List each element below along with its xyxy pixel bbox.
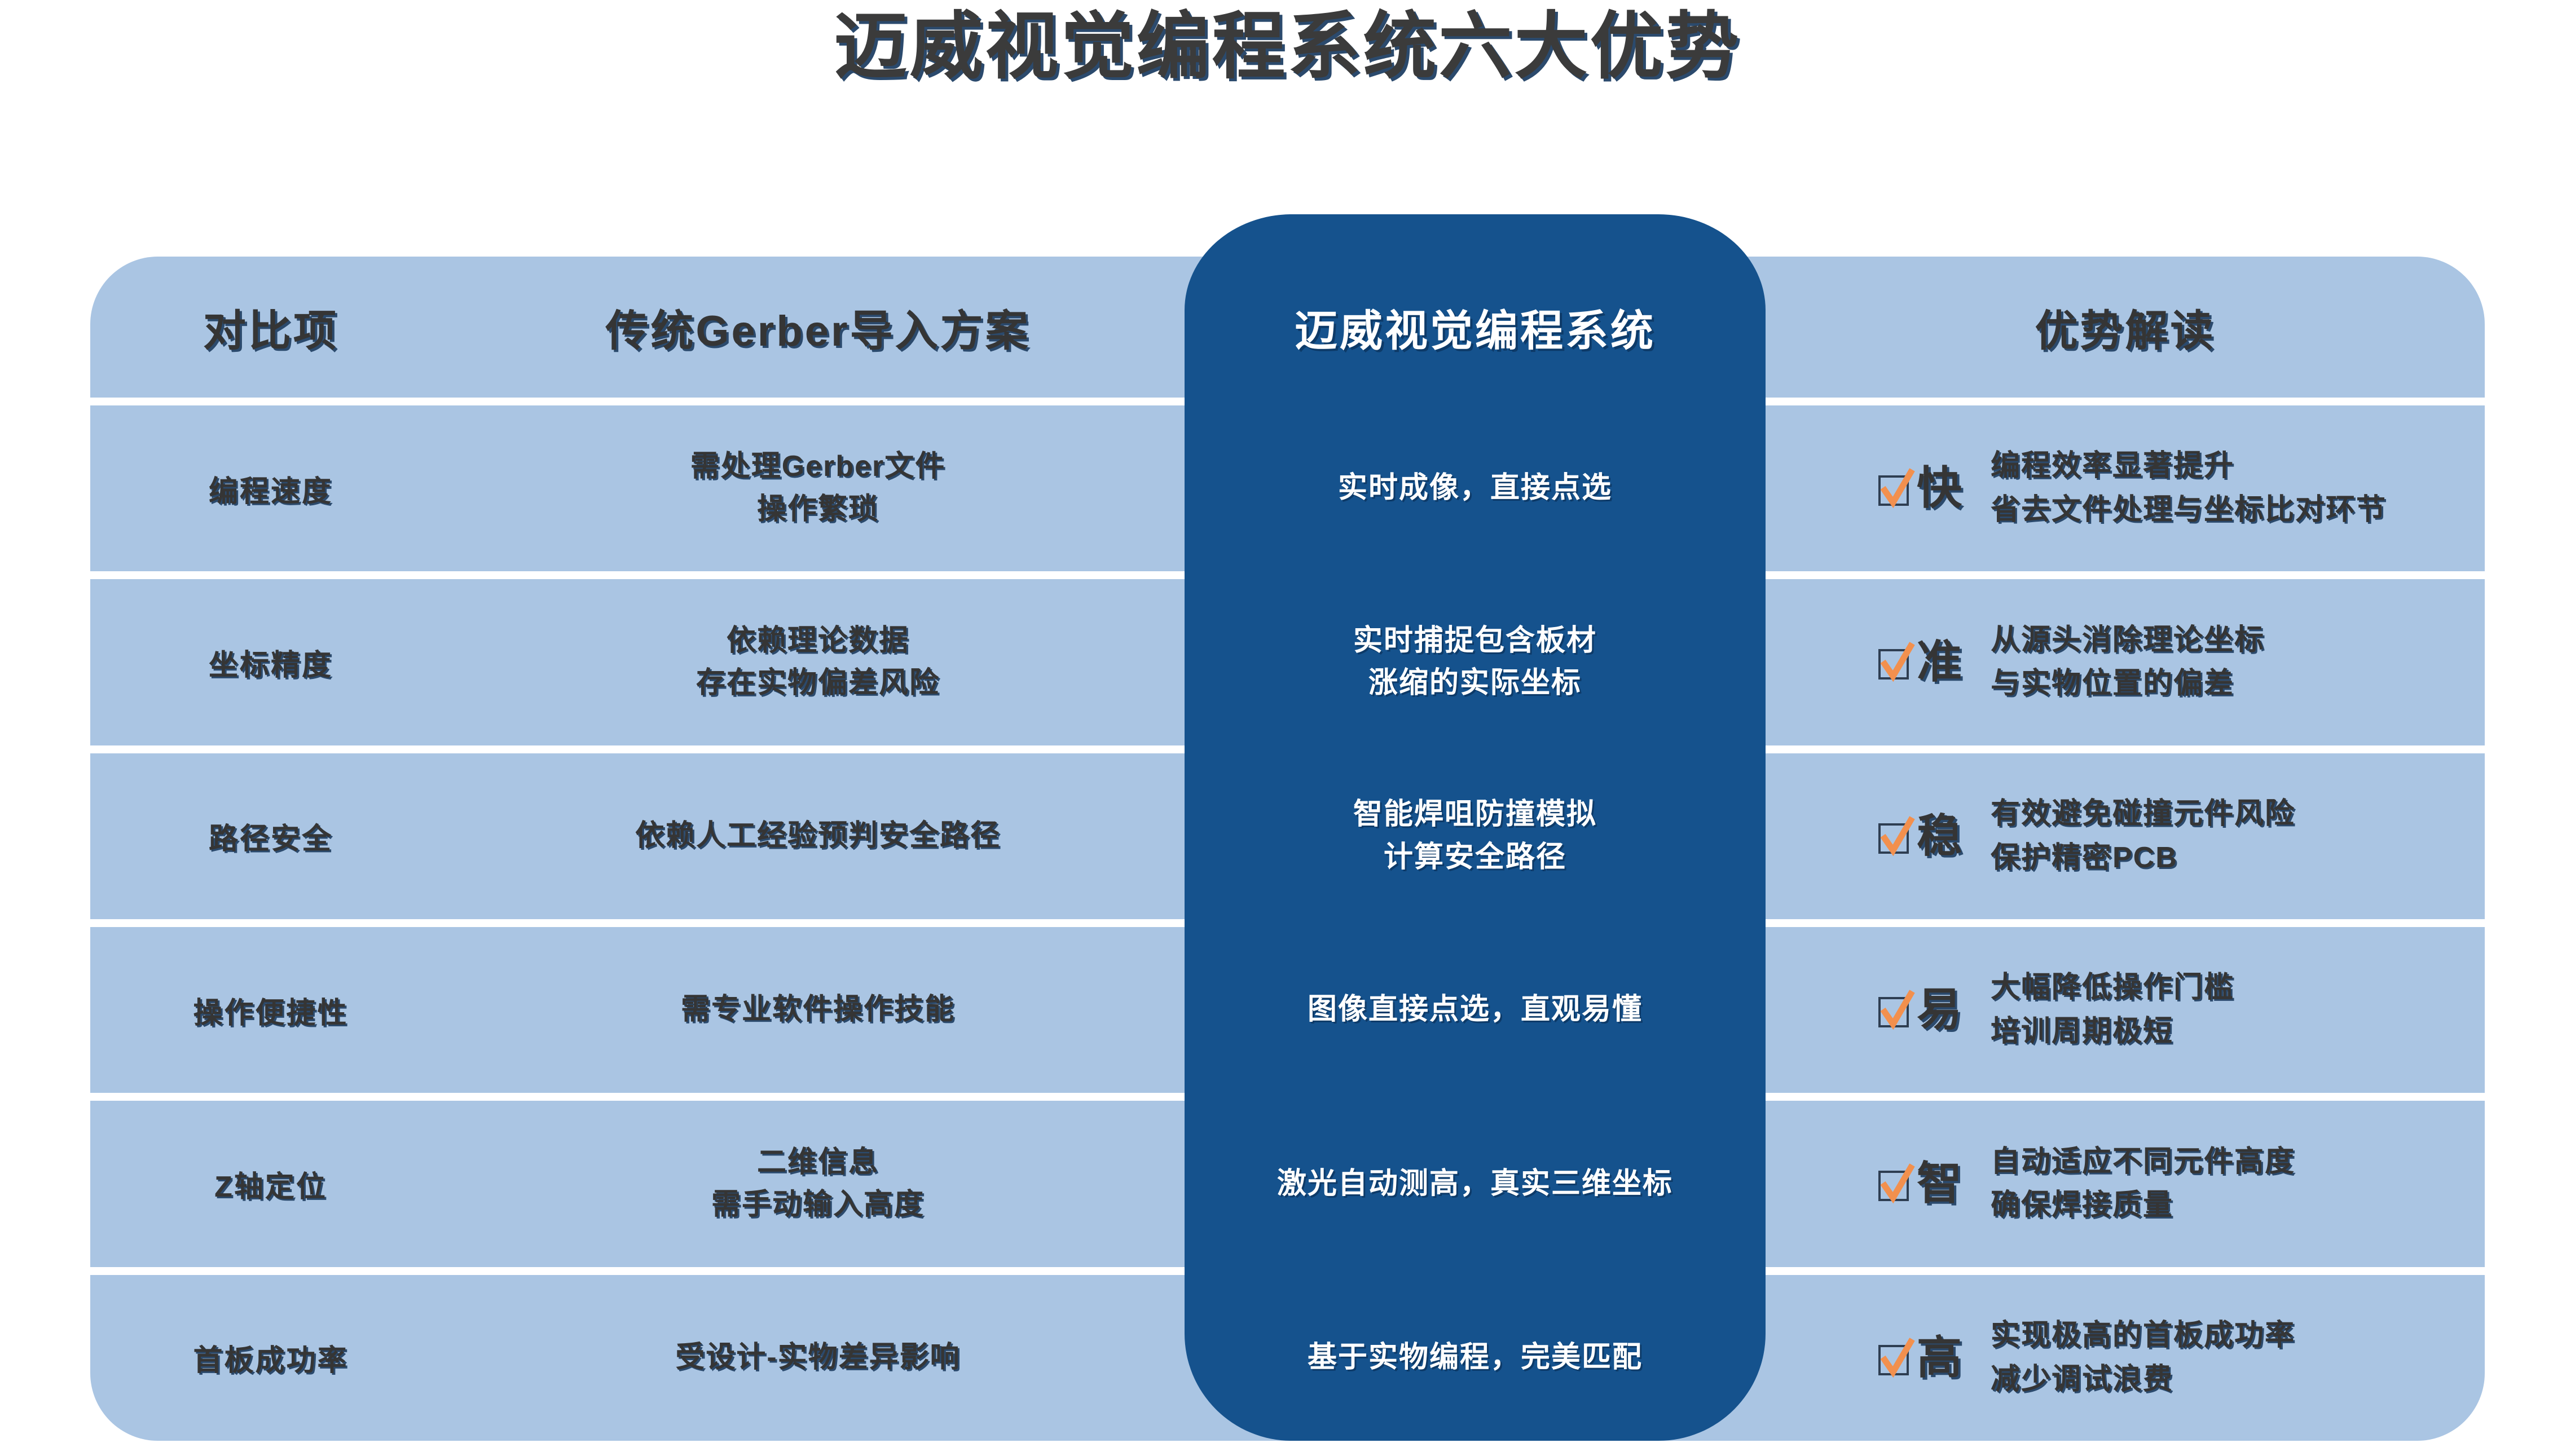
item-label: 坐标精度 <box>209 641 333 683</box>
hero-text: 实时成像，直接点选 <box>1338 468 1612 509</box>
item-label: Z轴定位 <box>214 1163 327 1205</box>
cell-benefit: 智 自动适应不同元件高度 确保焊接质量 <box>1766 1101 2485 1267</box>
hero-text: 实时捕捉包含板材 涨缩的实际坐标 <box>1353 621 1597 704</box>
hero-line: 实时成像，直接点选 <box>1338 468 1612 509</box>
hero-line: 涨缩的实际坐标 <box>1353 663 1597 704</box>
benefit-keyword: 易 <box>1917 987 1962 1033</box>
legacy-line: 需专业软件操作技能 <box>681 990 955 1030</box>
table-row: 路径安全 依赖人工经验预判安全路径 智能焊咀防撞模拟 计算安全路径 <box>90 753 2485 919</box>
cell-item: 坐标精度 <box>90 579 451 745</box>
benefit-keyword: 快 <box>1917 466 1962 511</box>
page-title: 迈威视觉编程系统六大优势 <box>0 5 2575 89</box>
cell-benefit: 稳 有效避免碰撞元件风险 保护精密PCB <box>1766 753 2485 919</box>
cell-hero: 实时捕捉包含板材 涨缩的实际坐标 <box>1185 579 1766 745</box>
table-header-row: 对比项 传统Gerber导入方案 迈威视觉编程系统 优势解读 <box>90 257 2485 398</box>
hero-text: 基于实物编程，完美匹配 <box>1308 1338 1643 1378</box>
benefit-line: 与实物位置的偏差 <box>1991 663 2265 705</box>
table-row: 坐标精度 依赖理论数据 存在实物偏差风险 实时捕捉包含板材 涨缩的实际坐标 <box>90 579 2485 745</box>
item-label: 路径安全 <box>209 815 333 857</box>
table-row: 首板成功率 受设计-实物差异影响 基于实物编程，完美匹配 <box>90 1275 2485 1441</box>
header-cell-item: 对比项 <box>90 257 451 398</box>
item-label: 编程速度 <box>209 467 333 510</box>
table-body: 对比项 传统Gerber导入方案 迈威视觉编程系统 优势解读 编程速度 需处理G… <box>90 257 2485 1441</box>
benefit-text: 编程效率显著提升 省去文件处理与坐标比对环节 <box>1991 445 2387 531</box>
legacy-text: 依赖人工经验预判安全路径 <box>635 816 1001 857</box>
header-label-benefit: 优势解读 <box>2035 296 2216 358</box>
benefit-line: 自动适应不同元件高度 <box>1991 1141 2295 1183</box>
table-row: 编程速度 需处理Gerber文件 操作繁琐 实时成像，直接点选 <box>90 405 2485 571</box>
cell-legacy: 需专业软件操作技能 <box>451 927 1185 1093</box>
legacy-text: 需处理Gerber文件 操作繁琐 <box>690 447 946 530</box>
cell-benefit: 易 大幅降低操作门槛 培训周期极短 <box>1766 927 2485 1093</box>
hero-line: 基于实物编程，完美匹配 <box>1308 1338 1643 1378</box>
hero-line: 智能焊咀防撞模拟 <box>1353 795 1597 835</box>
benefit-line: 省去文件处理与坐标比对环节 <box>1991 489 2387 531</box>
cell-legacy: 依赖理论数据 存在实物偏差风险 <box>451 579 1185 745</box>
benefit-text: 实现极高的首板成功率 减少调试浪费 <box>1991 1315 2295 1401</box>
cell-legacy: 二维信息 需手动输入高度 <box>451 1101 1185 1267</box>
cell-item: Z轴定位 <box>90 1101 451 1267</box>
benefit-keyword-group: 易 <box>1878 987 1962 1033</box>
checkbox-checked-icon <box>1878 1340 1913 1375</box>
benefit-text: 有效避免碰撞元件风险 保护精密PCB <box>1991 793 2295 879</box>
legacy-line: 需手动输入高度 <box>711 1185 925 1225</box>
benefit-line: 确保焊接质量 <box>1991 1185 2295 1226</box>
cell-hero: 图像直接点选，直观易懂 <box>1185 927 1766 1093</box>
benefit-keyword-group: 稳 <box>1878 814 1962 859</box>
header-label-hero: 迈威视觉编程系统 <box>1295 296 1656 358</box>
cell-benefit: 高 实现极高的首板成功率 减少调试浪费 <box>1766 1275 2485 1441</box>
item-label: 首板成功率 <box>193 1336 348 1379</box>
comparison-table: 对比项 传统Gerber导入方案 迈威视觉编程系统 优势解读 编程速度 需处理G… <box>90 257 2485 1441</box>
checkbox-checked-icon <box>1878 645 1913 680</box>
benefit-keyword-group: 高 <box>1878 1335 1962 1380</box>
legacy-line: 二维信息 <box>711 1142 925 1183</box>
benefit-line: 大幅降低操作门槛 <box>1991 967 2234 1009</box>
benefit-line: 培训周期极短 <box>1991 1011 2234 1053</box>
checkbox-checked-icon <box>1878 819 1913 854</box>
legacy-text: 需专业软件操作技能 <box>681 990 955 1030</box>
legacy-line: 操作繁琐 <box>690 489 946 530</box>
legacy-line: 需处理Gerber文件 <box>690 447 946 487</box>
table-row: Z轴定位 二维信息 需手动输入高度 激光自动测高，真实三维坐标 <box>90 1101 2485 1267</box>
hero-line: 实时捕捉包含板材 <box>1353 621 1597 661</box>
benefit-keyword: 准 <box>1917 639 1962 685</box>
cell-legacy: 需处理Gerber文件 操作繁琐 <box>451 405 1185 571</box>
benefit-keyword-group: 快 <box>1878 466 1962 511</box>
legacy-line: 存在实物偏差风险 <box>696 663 940 704</box>
benefit-keyword: 稳 <box>1917 814 1962 859</box>
hero-line: 激光自动测高，真实三维坐标 <box>1277 1164 1673 1204</box>
hero-line: 计算安全路径 <box>1353 837 1597 878</box>
header-label-legacy: 传统Gerber导入方案 <box>605 296 1030 358</box>
cell-item: 编程速度 <box>90 405 451 571</box>
legacy-text: 受设计-实物差异影响 <box>675 1338 960 1378</box>
benefit-text: 从源头消除理论坐标 与实物位置的偏差 <box>1991 620 2265 705</box>
cell-hero: 实时成像，直接点选 <box>1185 405 1766 571</box>
cell-legacy: 依赖人工经验预判安全路径 <box>451 753 1185 919</box>
benefit-line: 编程效率显著提升 <box>1991 445 2387 487</box>
hero-text: 激光自动测高，真实三维坐标 <box>1277 1164 1673 1204</box>
hero-line: 图像直接点选，直观易懂 <box>1308 990 1643 1030</box>
legacy-line: 依赖人工经验预判安全路径 <box>635 816 1001 857</box>
legacy-line: 受设计-实物差异影响 <box>675 1338 960 1378</box>
cell-benefit: 准 从源头消除理论坐标 与实物位置的偏差 <box>1766 579 2485 745</box>
hero-text: 图像直接点选，直观易懂 <box>1308 990 1643 1030</box>
header-cell-benefit: 优势解读 <box>1766 257 2485 398</box>
benefit-line: 减少调试浪费 <box>1991 1359 2295 1401</box>
benefit-keyword-group: 智 <box>1878 1161 1962 1206</box>
benefit-text: 自动适应不同元件高度 确保焊接质量 <box>1991 1141 2295 1227</box>
cell-hero: 激光自动测高，真实三维坐标 <box>1185 1101 1766 1267</box>
header-label-item: 对比项 <box>203 296 338 358</box>
legacy-line: 依赖理论数据 <box>696 621 940 661</box>
checkbox-checked-icon <box>1878 1166 1913 1201</box>
header-cell-hero: 迈威视觉编程系统 <box>1185 257 1766 398</box>
cell-item: 操作便捷性 <box>90 927 451 1093</box>
item-label: 操作便捷性 <box>193 989 348 1031</box>
benefit-keyword-group: 准 <box>1878 639 1962 685</box>
cell-item: 首板成功率 <box>90 1275 451 1441</box>
legacy-text: 依赖理论数据 存在实物偏差风险 <box>696 621 940 704</box>
benefit-line: 实现极高的首板成功率 <box>1991 1315 2295 1357</box>
hero-text: 智能焊咀防撞模拟 计算安全路径 <box>1353 795 1597 878</box>
checkbox-checked-icon <box>1878 471 1913 506</box>
benefit-keyword: 智 <box>1917 1161 1962 1206</box>
cell-item: 路径安全 <box>90 753 451 919</box>
benefit-line: 保护精密PCB <box>1991 837 2295 879</box>
cell-benefit: 快 编程效率显著提升 省去文件处理与坐标比对环节 <box>1766 405 2485 571</box>
header-cell-legacy: 传统Gerber导入方案 <box>451 257 1185 398</box>
benefit-line: 有效避免碰撞元件风险 <box>1991 793 2295 835</box>
benefit-line: 从源头消除理论坐标 <box>1991 620 2265 661</box>
benefit-keyword: 高 <box>1917 1335 1962 1380</box>
benefit-text: 大幅降低操作门槛 培训周期极短 <box>1991 967 2234 1053</box>
cell-hero: 基于实物编程，完美匹配 <box>1185 1275 1766 1441</box>
cell-legacy: 受设计-实物差异影响 <box>451 1275 1185 1441</box>
table-row: 操作便捷性 需专业软件操作技能 图像直接点选，直观易懂 <box>90 927 2485 1093</box>
checkbox-checked-icon <box>1878 992 1913 1027</box>
cell-hero: 智能焊咀防撞模拟 计算安全路径 <box>1185 753 1766 919</box>
legacy-text: 二维信息 需手动输入高度 <box>711 1142 925 1226</box>
